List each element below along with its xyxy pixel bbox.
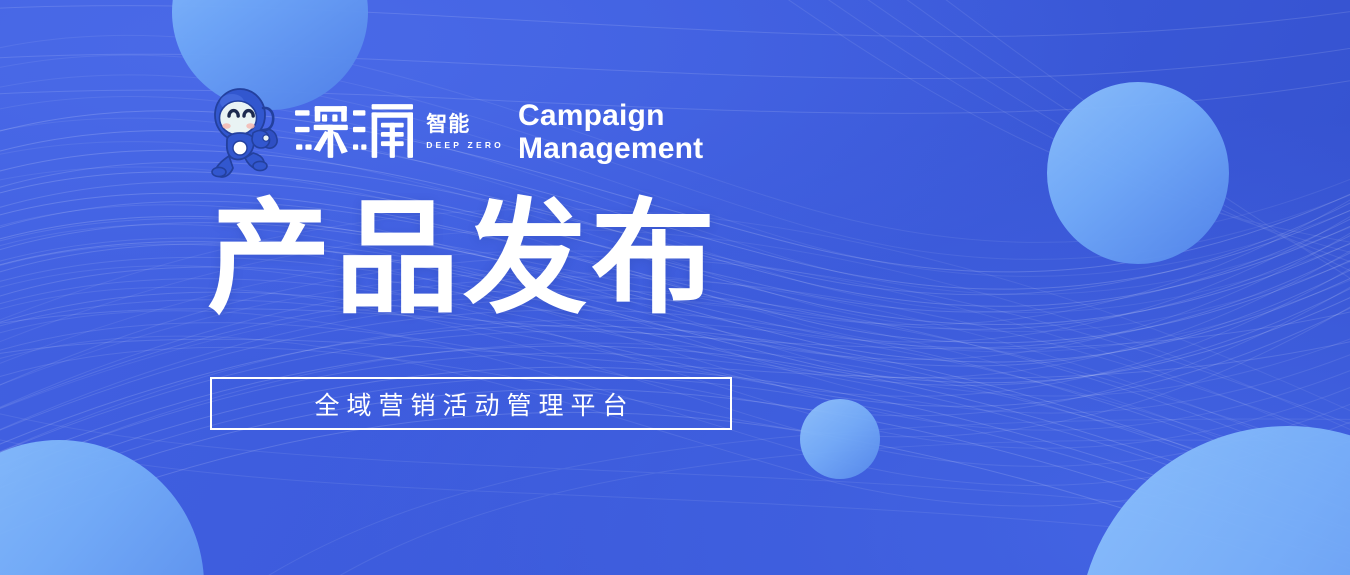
brand-wordmark: 智能 DEEP ZERO Campaign Management — [293, 99, 703, 165]
banner-content: 智能 DEEP ZERO Campaign Management 产品发布 全域… — [0, 0, 1350, 575]
subtitle-label: 全域营销活动管理平台 — [307, 386, 634, 422]
robot-mascot-icon — [207, 86, 285, 178]
subtitle-box: 全域营销活动管理平台 — [210, 377, 732, 430]
product-name-line2: Management — [518, 132, 703, 165]
brand-sub-cjk-label: 智能 — [426, 114, 504, 135]
brand-sub-en-label: DEEP ZERO — [426, 140, 504, 151]
product-name: Campaign Management — [518, 99, 703, 165]
product-launch-banner: 智能 DEEP ZERO Campaign Management 产品发布 全域… — [0, 0, 1350, 575]
brand-logo-lockup: 智能 DEEP ZERO Campaign Management — [207, 84, 703, 180]
brand-subbrand: 智能 DEEP ZERO — [426, 114, 504, 151]
product-name-line1: Campaign — [518, 99, 703, 132]
page-title: 产品发布 — [207, 190, 719, 329]
brand-cjk-logotype — [293, 102, 419, 162]
